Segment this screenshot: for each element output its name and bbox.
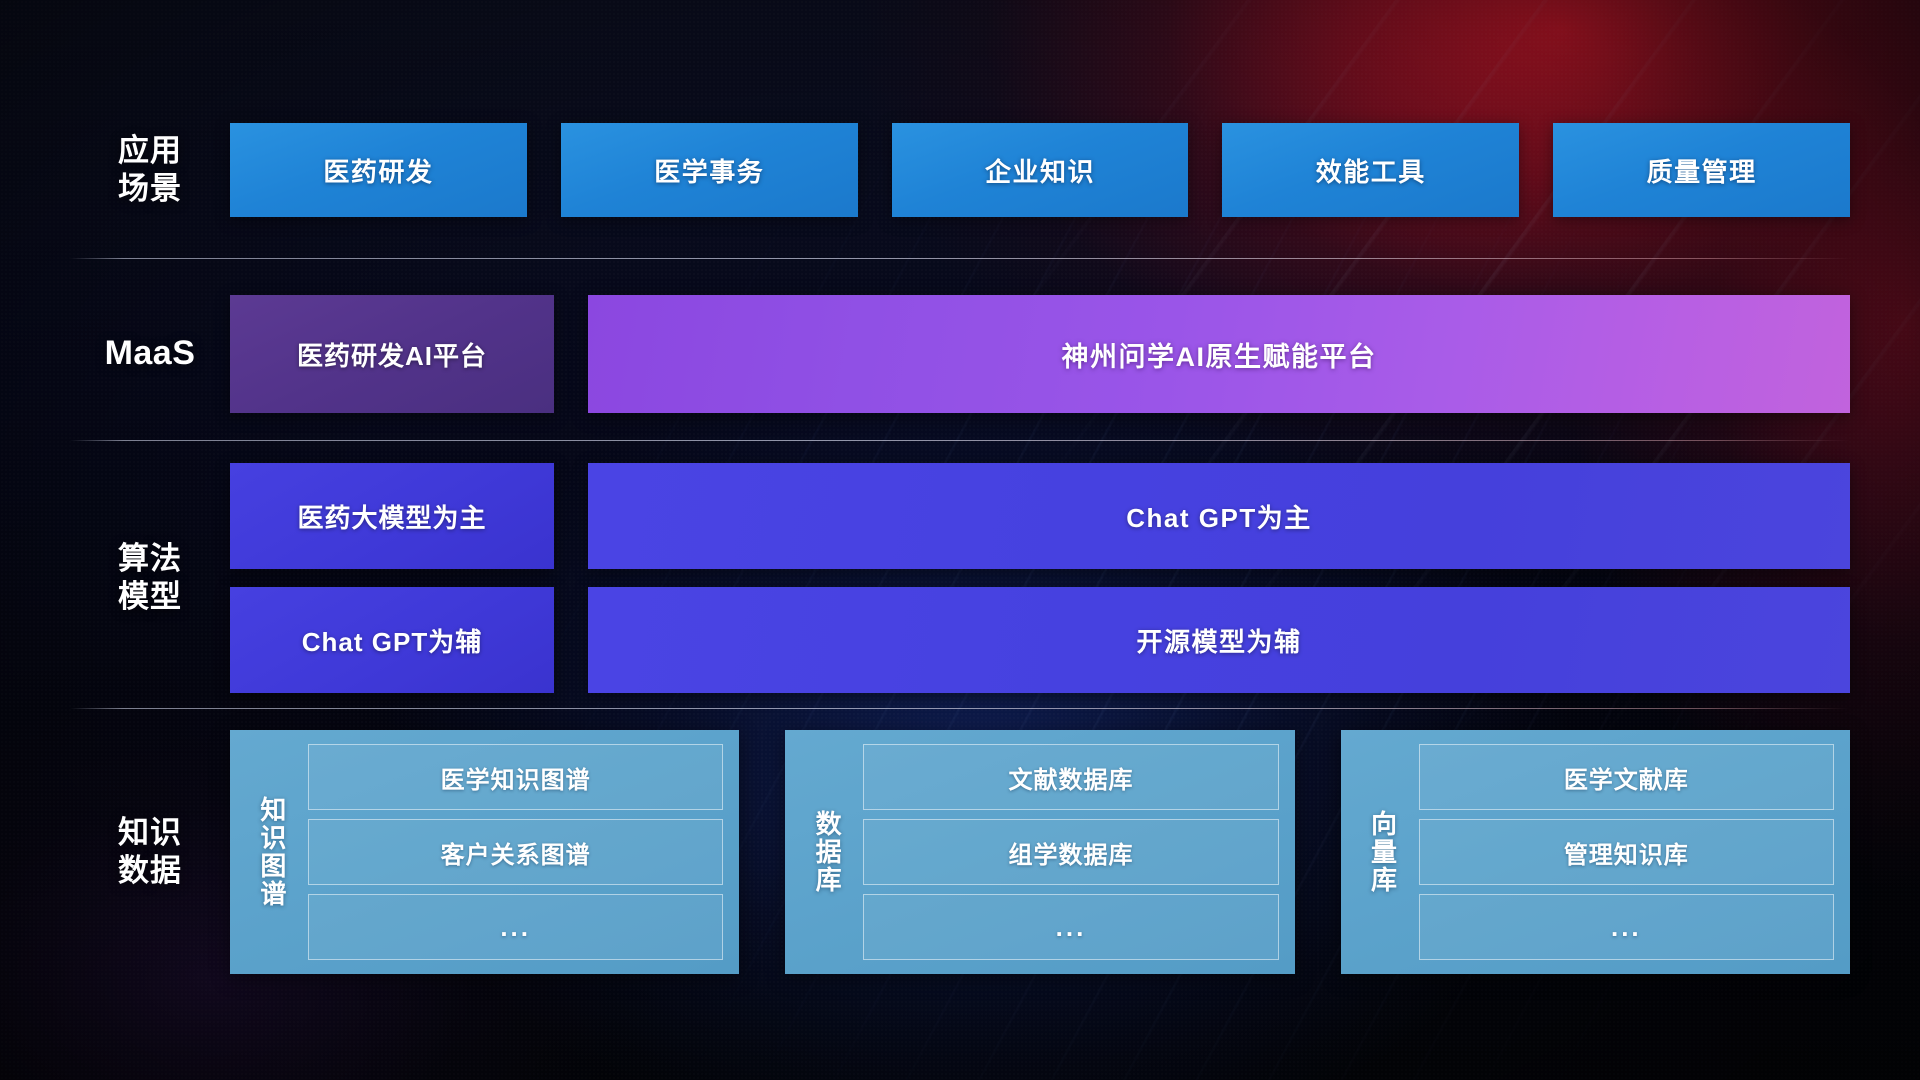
row-label-application-scenarios: 应用 场景 [70, 132, 230, 208]
knowledge-item-omics-database[interactable]: 组学数据库 [863, 819, 1278, 885]
application-scenario-list: 医药研发 医学事务 企业知识 效能工具 质量管理 [230, 123, 1850, 217]
app-box-quality-management[interactable]: 质量管理 [1553, 123, 1850, 217]
knowledge-item-list-graph: 医学知识图谱 客户关系图谱 ... [298, 744, 723, 960]
row-label-knowledge-data: 知识 数据 [70, 730, 230, 974]
knowledge-group-title-graph: 知识图谱 [244, 744, 298, 960]
knowledge-item-medical-literature-store[interactable]: 医学文献库 [1419, 744, 1834, 810]
knowledge-item-list-database: 文献数据库 组学数据库 ... [853, 744, 1278, 960]
knowledge-item-management-knowledge-store[interactable]: 管理知识库 [1419, 819, 1834, 885]
algorithm-row-secondary: Chat GPT为辅 开源模型为辅 [230, 587, 1850, 693]
knowledge-group-graph[interactable]: 知识图谱 医学知识图谱 客户关系图谱 ... [230, 730, 739, 974]
row-application-scenarios: 应用 场景 医药研发 医学事务 企业知识 效能工具 质量管理 [70, 110, 1850, 230]
divider-1 [70, 258, 1850, 259]
maas-box-medicine-rd-ai-platform[interactable]: 医药研发AI平台 [230, 295, 554, 413]
app-box-medicine-rd[interactable]: 医药研发 [230, 123, 527, 217]
knowledge-group-title-vector-store: 向量库 [1355, 744, 1409, 960]
knowledge-group-title-database: 数据库 [799, 744, 853, 960]
app-box-efficiency-tools[interactable]: 效能工具 [1222, 123, 1519, 217]
algo-box-chatgpt-primary[interactable]: Chat GPT为主 [588, 463, 1850, 569]
slide-canvas: 应用 场景 医药研发 医学事务 企业知识 效能工具 质量管理 MaaS 医药研发… [0, 0, 1920, 1080]
row-label-algorithm-model: 算法 模型 [70, 462, 230, 694]
knowledge-item-more-vector-store[interactable]: ... [1419, 894, 1834, 960]
row-maas: MaaS 医药研发AI平台 神州问学AI原生赋能平台 [70, 295, 1850, 413]
diagram-content: 应用 场景 医药研发 医学事务 企业知识 效能工具 质量管理 MaaS 医药研发… [0, 0, 1920, 1080]
knowledge-item-more-graph[interactable]: ... [308, 894, 723, 960]
knowledge-group-list: 知识图谱 医学知识图谱 客户关系图谱 ... 数据库 文献数据库 组学数据库 .… [230, 730, 1850, 974]
row-algorithm-model: 算法 模型 医药大模型为主 Chat GPT为主 Chat GPT为辅 开源模型… [70, 462, 1850, 694]
algo-box-opensource-model-secondary[interactable]: 开源模型为辅 [588, 587, 1850, 693]
row-knowledge-data: 知识 数据 知识图谱 医学知识图谱 客户关系图谱 ... 数据库 文献数据库 [70, 730, 1850, 974]
algorithm-row-primary: 医药大模型为主 Chat GPT为主 [230, 463, 1850, 569]
divider-3 [70, 708, 1850, 709]
knowledge-group-vector-store[interactable]: 向量库 医学文献库 管理知识库 ... [1341, 730, 1850, 974]
maas-list: 医药研发AI平台 神州问学AI原生赋能平台 [230, 295, 1850, 413]
algo-box-medicine-large-model-primary[interactable]: 医药大模型为主 [230, 463, 554, 569]
app-box-enterprise-knowledge[interactable]: 企业知识 [892, 123, 1189, 217]
algorithm-model-list: 医药大模型为主 Chat GPT为主 Chat GPT为辅 开源模型为辅 [230, 462, 1850, 694]
app-box-medical-affairs[interactable]: 医学事务 [561, 123, 858, 217]
knowledge-item-more-database[interactable]: ... [863, 894, 1278, 960]
knowledge-item-customer-relation-graph[interactable]: 客户关系图谱 [308, 819, 723, 885]
knowledge-item-medical-knowledge-graph[interactable]: 医学知识图谱 [308, 744, 723, 810]
algo-box-chatgpt-secondary[interactable]: Chat GPT为辅 [230, 587, 554, 693]
knowledge-group-database[interactable]: 数据库 文献数据库 组学数据库 ... [785, 730, 1294, 974]
row-label-maas: MaaS [70, 333, 230, 374]
knowledge-item-list-vector-store: 医学文献库 管理知识库 ... [1409, 744, 1834, 960]
knowledge-item-literature-database[interactable]: 文献数据库 [863, 744, 1278, 810]
maas-box-shenzhou-wenxue-platform[interactable]: 神州问学AI原生赋能平台 [588, 295, 1850, 413]
divider-2 [70, 440, 1850, 441]
